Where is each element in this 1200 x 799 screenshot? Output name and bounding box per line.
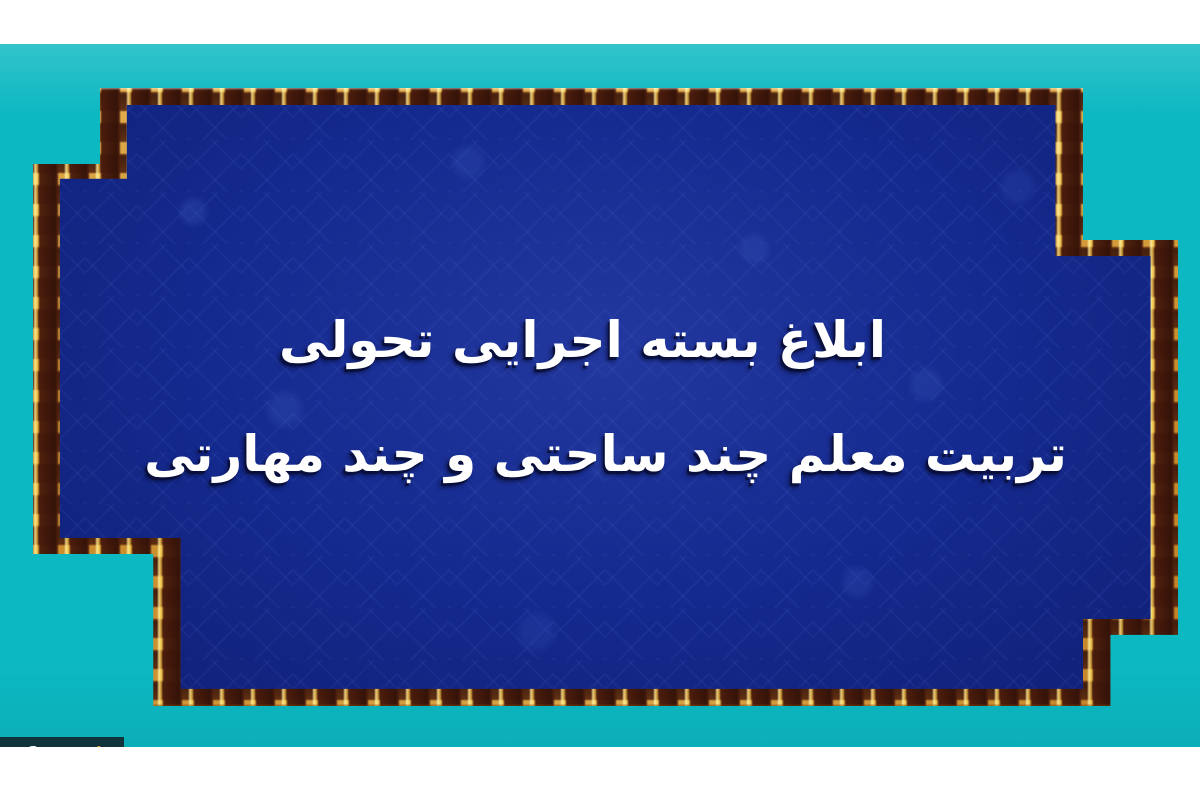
banner-image: ابلاغ بسته اجرایی تحولی تربیت معلم چند س… [0,0,1200,799]
headline-block: ابلاغ بسته اجرایی تحولی تربیت معلم چند س… [33,88,1178,706]
watermark-text: cfu.ac.ir [10,743,114,747]
watermark-part-1: cfu. [10,743,57,747]
ornate-frame: ابلاغ بسته اجرایی تحولی تربیت معلم چند س… [33,88,1178,706]
headline-line-1: ابلاغ بسته اجرایی تحولی [279,309,886,372]
teal-backdrop: ابلاغ بسته اجرایی تحولی تربیت معلم چند س… [0,44,1200,747]
watermark-part-2: ac.ir [57,743,113,747]
site-watermark: cfu.ac.ir [0,737,124,747]
headline-line-2: تربیت معلم چند ساحتی و چند مهارتی [144,423,1067,486]
blue-damask-panel: ابلاغ بسته اجرایی تحولی تربیت معلم چند س… [33,88,1178,706]
